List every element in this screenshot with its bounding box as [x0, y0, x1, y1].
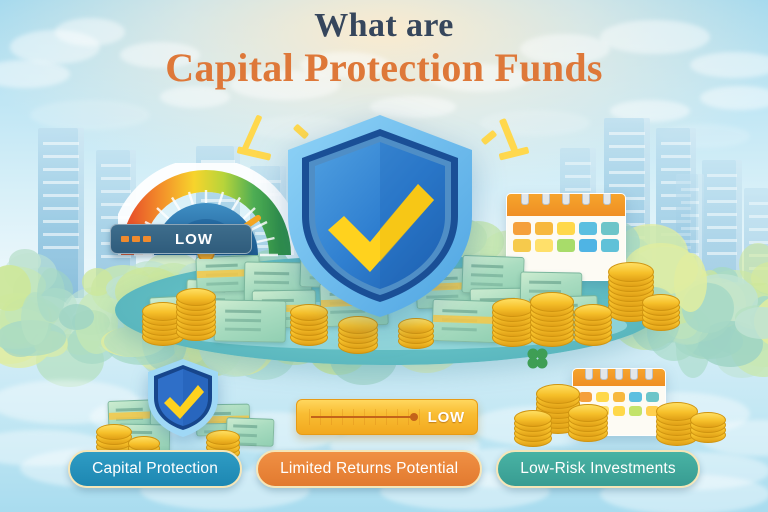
calendar-cell — [513, 239, 531, 252]
calendar-cell — [557, 222, 575, 235]
building-window-row — [609, 184, 645, 187]
title-line-2: Capital Protection Funds — [0, 46, 768, 90]
coin — [574, 304, 612, 321]
building-window-row — [707, 213, 737, 216]
building-window-row — [565, 175, 591, 178]
calendar-large-grid — [507, 216, 625, 258]
building-window-row — [661, 168, 691, 171]
mini-shield-svg — [146, 358, 220, 438]
calendar-cell — [535, 222, 553, 235]
coin-stack — [642, 294, 678, 327]
calendar-cell — [613, 406, 626, 416]
building-window-row — [707, 239, 737, 242]
coin-stack — [690, 412, 724, 440]
building-window-row — [707, 252, 737, 255]
gauge-risk-badge: LOW — [110, 224, 252, 254]
building-window-row — [609, 158, 645, 161]
feature-pill-row: Capital Protection Limited Returns Poten… — [0, 450, 768, 488]
building-window-row — [43, 168, 79, 171]
pill-capital-protection-label: Capital Protection — [92, 460, 218, 478]
calendar-cell — [579, 222, 597, 235]
calendar-small-rings-icon — [573, 368, 665, 380]
building-window-row — [681, 201, 699, 204]
pill-low-risk-investments[interactable]: Low-Risk Investments — [496, 450, 700, 488]
building-window-row — [43, 246, 79, 249]
coin — [536, 384, 580, 404]
calendar-large-rings-icon — [507, 193, 625, 205]
building-window-row — [707, 187, 737, 190]
pill-capital-protection[interactable]: Capital Protection — [68, 450, 242, 488]
calendar-cell — [513, 222, 531, 235]
coin-stack — [530, 292, 572, 340]
coin-stack — [568, 404, 606, 437]
gauge-badge-label: LOW — [151, 231, 237, 248]
coin — [642, 294, 680, 311]
risk-bar-ticks — [309, 409, 420, 425]
building-window-row — [749, 228, 768, 231]
tree-foliage — [739, 243, 768, 286]
pill-low-risk-investments-label: Low-Risk Investments — [520, 460, 676, 478]
clover-icon — [524, 345, 550, 376]
main-protection-shield — [282, 112, 478, 320]
building-window-row — [43, 220, 79, 223]
calendar-cell — [613, 392, 626, 402]
title-line-1: What are — [0, 8, 768, 44]
building-window-row — [43, 207, 79, 210]
coin-stack — [338, 316, 376, 349]
risk-level-bar: LOW — [296, 399, 478, 435]
calendar-cell — [596, 392, 609, 402]
coin-stack — [514, 410, 550, 443]
building-window-row — [707, 226, 737, 229]
building-window-row — [43, 155, 79, 158]
coin-stack — [176, 288, 214, 336]
coin — [530, 292, 574, 312]
building-window-row — [565, 188, 591, 191]
calendar-cell — [629, 392, 642, 402]
calendar-cell — [601, 239, 619, 252]
building-window-row — [707, 200, 737, 203]
pill-limited-returns-potential-label: Limited Returns Potential — [280, 460, 458, 478]
building-window-row — [661, 142, 691, 145]
building-window-row — [749, 215, 768, 218]
coin-stack — [398, 318, 432, 346]
building-window-row — [681, 214, 699, 217]
coin-stack — [492, 298, 532, 341]
building-window-row — [609, 171, 645, 174]
coin-stack — [574, 304, 610, 342]
coin — [514, 410, 552, 427]
calendar-cell — [646, 392, 659, 402]
building-window-row — [565, 162, 591, 165]
building-window-row — [43, 194, 79, 197]
calendar-cell — [629, 406, 642, 416]
page-title: What are Capital Protection Funds — [0, 8, 768, 90]
main-shield-svg — [282, 112, 478, 320]
calendar-cell — [557, 239, 575, 252]
badge-dashes-icon — [121, 236, 151, 242]
pill-limited-returns-potential[interactable]: Limited Returns Potential — [256, 450, 482, 488]
building-window-row — [681, 227, 699, 230]
infographic-canvas: What are Capital Protection Funds — [0, 0, 768, 512]
building-window-row — [707, 174, 737, 177]
coin — [492, 298, 534, 317]
risk-bar-label: LOW — [428, 409, 465, 426]
building-window-row — [43, 142, 79, 145]
calendar-cell — [579, 239, 597, 252]
building-window-row — [43, 233, 79, 236]
calendar-cell — [579, 392, 592, 402]
building-window-row — [43, 181, 79, 184]
coin — [176, 288, 216, 306]
money-bundle — [214, 299, 287, 342]
coin — [128, 436, 160, 451]
mini-protection-shield — [146, 358, 220, 438]
building-window-row — [749, 202, 768, 205]
calendar-cell — [601, 222, 619, 235]
building-window-row — [609, 145, 645, 148]
building-window-row — [661, 155, 691, 158]
building-window-row — [681, 188, 699, 191]
calendar-cell — [535, 239, 553, 252]
coin — [568, 404, 608, 422]
building-window-row — [609, 132, 645, 135]
